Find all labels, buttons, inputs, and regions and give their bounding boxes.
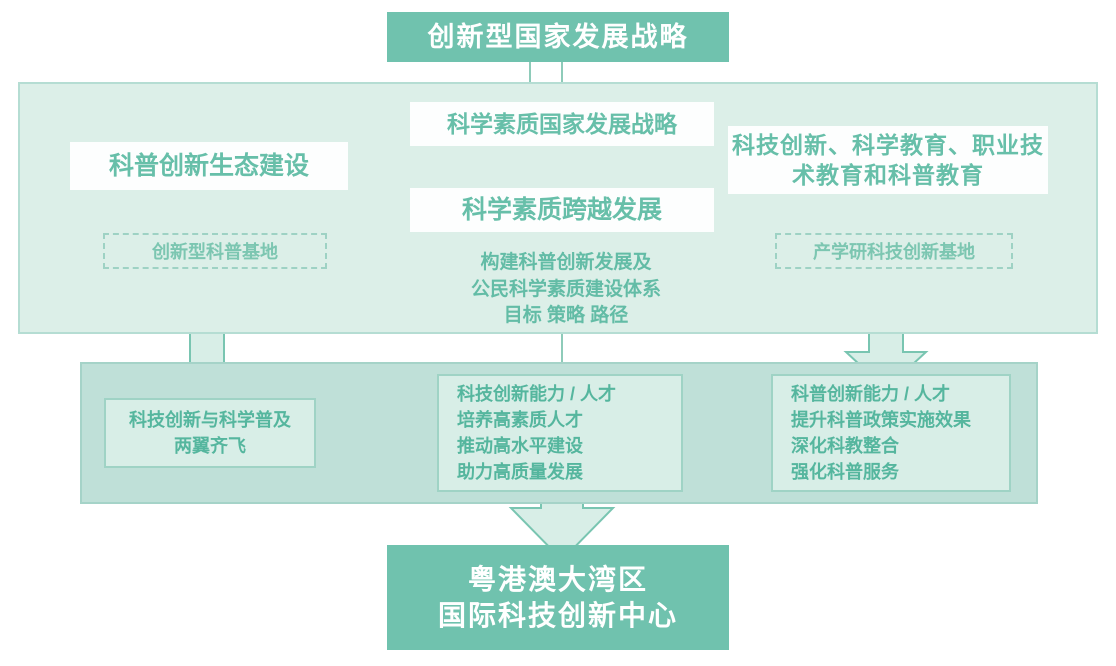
- tech-capacity-line-3: 推动高水平建设: [457, 433, 681, 459]
- center-goal-line-2: 公民科学素质建设体系: [471, 277, 661, 304]
- tech-capacity-line-1: 科技创新能力 / 人才: [457, 381, 681, 407]
- card-popular-science-ecology: 科普创新生态建设: [68, 140, 350, 192]
- bottom-title-line-2: 国际科技创新中心: [438, 598, 678, 634]
- dashed-box-industry-research-base: 产学研科技创新基地: [775, 233, 1013, 269]
- bottom-title-block: 粤港澳大湾区 国际科技创新中心: [387, 545, 729, 650]
- card-leap-development: 科学素质跨越发展: [408, 186, 716, 234]
- flowchart-diagram: 创新型国家发展战略 科普创新生态建设 科学素质国家发展战略 科学素质跨越发展 科…: [0, 0, 1116, 666]
- dashed-box-innovative-base: 创新型科普基地: [103, 233, 327, 269]
- center-goal-line-3: 目标 策略 路径: [504, 303, 629, 330]
- tech-capacity-line-2: 培养高素质人才: [457, 407, 681, 433]
- sci-pop-line-3: 深化科教整合: [791, 433, 1009, 459]
- top-title-block: 创新型国家发展战略: [387, 12, 729, 62]
- bottom-title-line-1: 粤港澳大湾区: [438, 562, 678, 598]
- sci-pop-line-1: 科普创新能力 / 人才: [791, 381, 1009, 407]
- tech-capacity-line-4: 助力高质量发展: [457, 459, 681, 485]
- sci-pop-line-4: 强化科普服务: [791, 459, 1009, 485]
- card-two-wings: 科技创新与科学普及 两翼齐飞: [104, 398, 316, 468]
- card-science-popularization-capacity: 科普创新能力 / 人才 提升科普政策实施效果 深化科教整合 强化科普服务: [771, 374, 1011, 492]
- center-goal-line-1: 构建科普创新发展及: [480, 250, 651, 277]
- card-education-innovation: 科技创新、科学教育、职业技术教育和科普教育: [726, 124, 1050, 196]
- card-tech-innovation-capacity: 科技创新能力 / 人才 培养高素质人才 推动高水平建设 助力高质量发展: [437, 374, 683, 492]
- two-wings-line-1: 科技创新与科学普及: [129, 407, 291, 433]
- center-goal-text: 构建科普创新发展及 公民科学素质建设体系 目标 策略 路径: [420, 248, 712, 332]
- sci-pop-line-2: 提升科普政策实施效果: [791, 407, 1009, 433]
- card-national-science-strategy: 科学素质国家发展战略: [408, 100, 716, 148]
- two-wings-line-2: 两翼齐飞: [174, 433, 246, 459]
